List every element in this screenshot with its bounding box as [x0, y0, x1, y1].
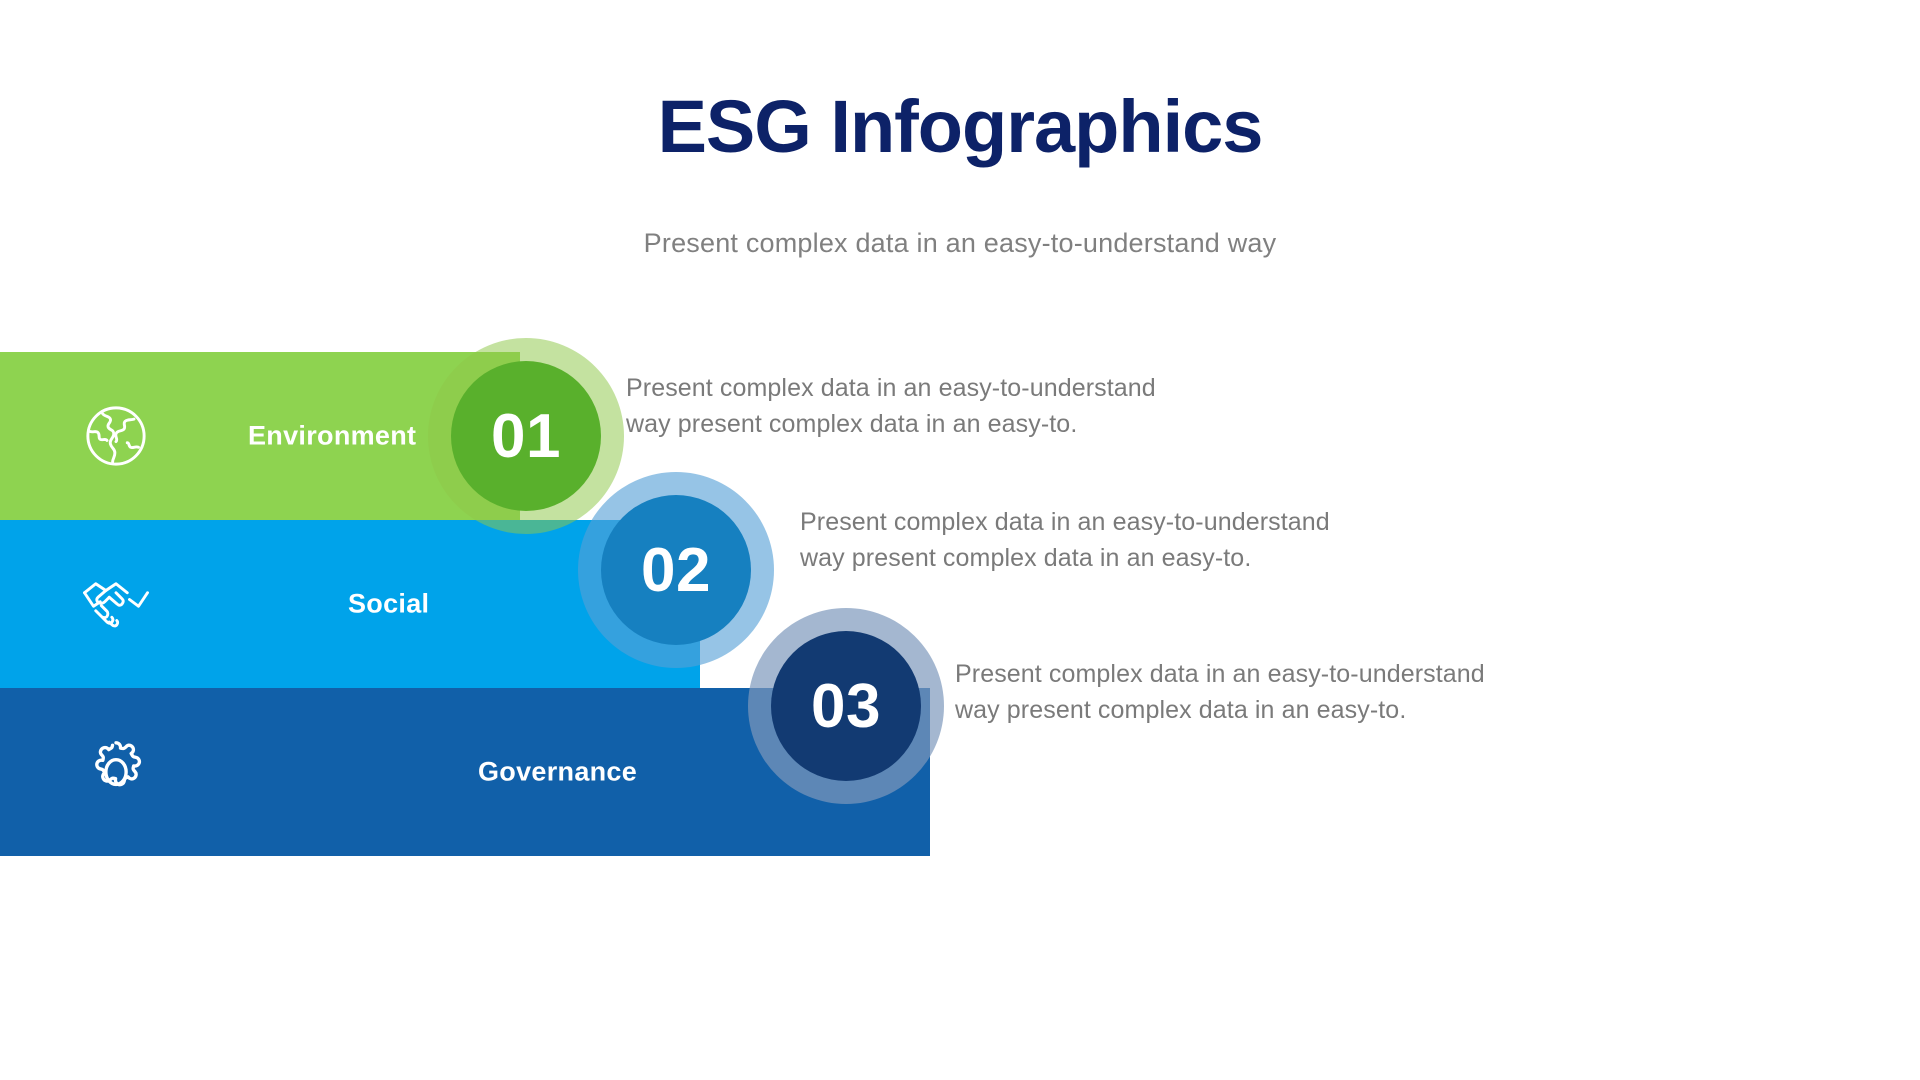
handshake-icon [78, 566, 154, 642]
desc-line-1: Present complex data in an easy-to-under… [800, 505, 1360, 541]
row-label-environment: Environment [248, 421, 416, 452]
desc-line-2: way present complex data in an easy-to. [800, 541, 1360, 577]
desc-line-1: Present complex data in an easy-to-under… [626, 371, 1186, 407]
number-value-03: 03 [771, 631, 921, 781]
desc-line-1: Present complex data in an easy-to-under… [955, 657, 1515, 693]
number-value-02: 02 [601, 495, 751, 645]
row-description-environment: Present complex data in an easy-to-under… [626, 371, 1186, 442]
row-description-governance: Present complex data in an easy-to-under… [955, 657, 1515, 728]
number-value-01: 01 [451, 361, 601, 511]
gear-icon [78, 734, 154, 810]
desc-line-2: way present complex data in an easy-to. [626, 407, 1186, 443]
globe-icon [78, 398, 154, 474]
desc-line-2: way present complex data in an easy-to. [955, 693, 1515, 729]
row-description-social: Present complex data in an easy-to-under… [800, 505, 1360, 576]
row-label-governance: Governance [478, 757, 637, 788]
row-label-social: Social [348, 589, 429, 620]
slide-canvas: ESG Infographics Present complex data in… [0, 0, 1920, 1080]
esg-rows: Environment 01 Present complex data in a… [0, 0, 1920, 1080]
